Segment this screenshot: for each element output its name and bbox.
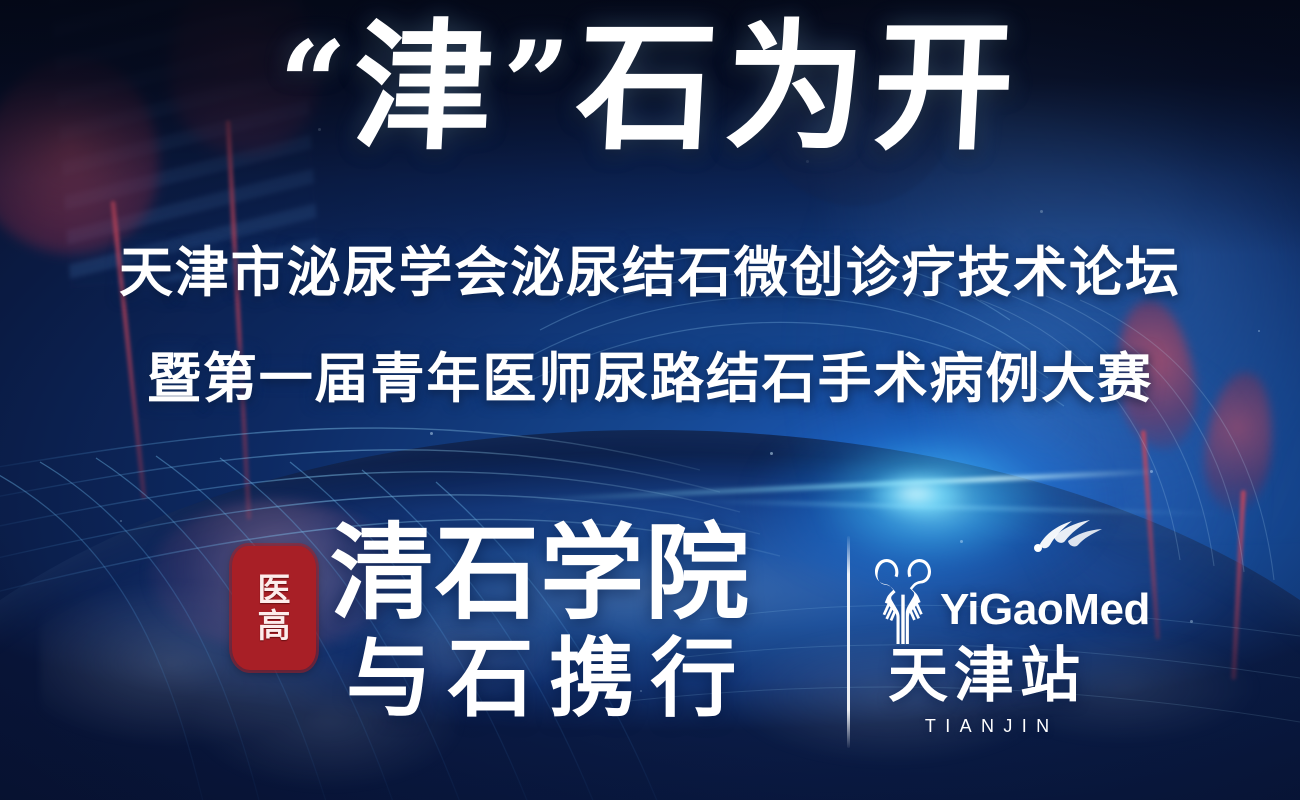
subtitle-line-1: 天津市泌尿学会泌尿结石微创诊疗技术论坛 — [0, 246, 1300, 300]
poster-headline: “津”石为开 — [0, 18, 1300, 158]
station-block: 天津站 TIANJIN — [872, 646, 1102, 737]
swoosh-icon — [1032, 514, 1106, 554]
seal-char-bottom: 高 — [258, 609, 291, 643]
poster-canvas: “津”石为开 天津市泌尿学会泌尿结石微创诊疗技术论坛 暨第一届青年医师尿路结石手… — [0, 0, 1300, 800]
brand-slogan: 与石携行 — [346, 636, 752, 722]
seal-stamp-icon: 医 高 — [232, 546, 316, 670]
seal-char-top: 医 — [258, 573, 291, 607]
vertical-divider — [847, 536, 850, 748]
headline-rest: 石为开 — [572, 6, 1026, 170]
headline-keyword: 津 — [349, 6, 506, 170]
brand-name: 清石学院 — [330, 524, 752, 626]
headline-close-quote: ” — [498, 16, 580, 152]
station-name-cn: 天津站 — [872, 646, 1102, 706]
brand-text-group: 清石学院 与石携行 — [330, 524, 752, 722]
station-name-en: TIANJIN — [872, 716, 1102, 737]
sponsor-block: YiGaoMed 天津站 TIANJIN — [872, 548, 1102, 737]
sponsor-name: YiGaoMed — [940, 588, 1150, 644]
brand-block: 医 高 清石学院 与石携行 — [232, 524, 752, 722]
headline-open-quote: “ — [275, 16, 357, 152]
sponsor-logo-row: YiGaoMed — [872, 548, 1102, 644]
subtitle-line-2: 暨第一届青年医师尿路结石手术病例大赛 — [0, 352, 1300, 406]
kidney-icon — [872, 556, 934, 644]
poster-content: “津”石为开 天津市泌尿学会泌尿结石微创诊疗技术论坛 暨第一届青年医师尿路结石手… — [0, 0, 1300, 800]
